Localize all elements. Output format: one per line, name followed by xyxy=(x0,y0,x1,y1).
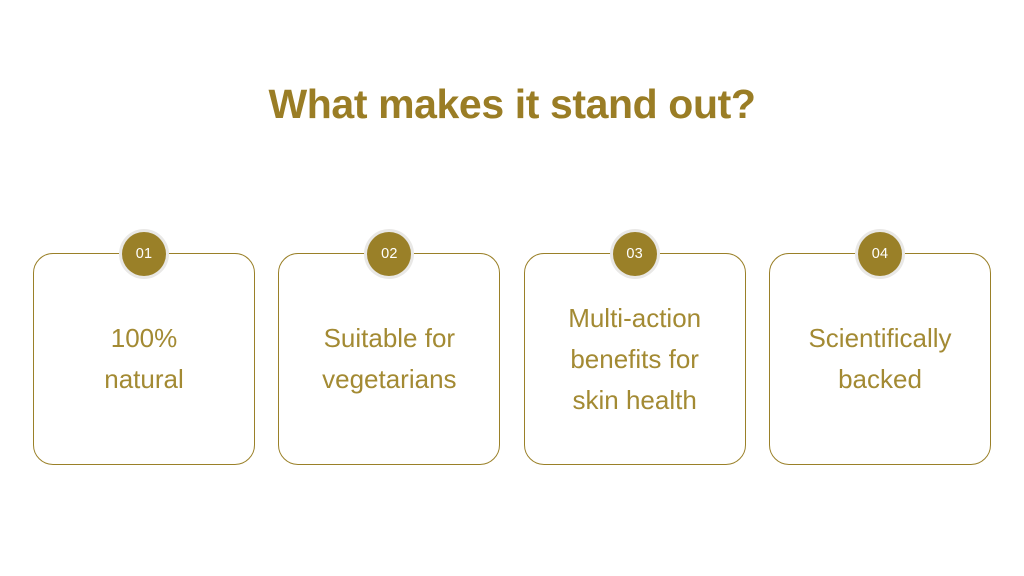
feature-card-text: Multi-action benefits for skin health xyxy=(525,298,745,421)
feature-card-text: Scientifically backed xyxy=(770,318,990,400)
feature-card-03[interactable]: 03 Multi-action benefits for skin health xyxy=(524,253,746,465)
slide-canvas: What makes it stand out? 01 100% natural… xyxy=(0,0,1024,576)
feature-card-02[interactable]: 02 Suitable for vegetarians xyxy=(278,253,500,465)
feature-card-row: 01 100% natural 02 Suitable for vegetari… xyxy=(33,253,991,465)
badge-number-label: 04 xyxy=(872,247,889,262)
badge-number-label: 03 xyxy=(626,247,643,262)
number-badge-04: 04 xyxy=(858,232,902,276)
badge-number-label: 02 xyxy=(381,247,398,262)
feature-card-text: Suitable for vegetarians xyxy=(279,318,499,400)
number-badge-01: 01 xyxy=(122,232,166,276)
feature-card-04[interactable]: 04 Scientifically backed xyxy=(769,253,991,465)
number-badge-03: 03 xyxy=(613,232,657,276)
number-badge-02: 02 xyxy=(367,232,411,276)
feature-card-01[interactable]: 01 100% natural xyxy=(33,253,255,465)
page-title: What makes it stand out? xyxy=(0,82,1024,128)
feature-card-text: 100% natural xyxy=(34,318,254,400)
badge-number-label: 01 xyxy=(136,247,153,262)
